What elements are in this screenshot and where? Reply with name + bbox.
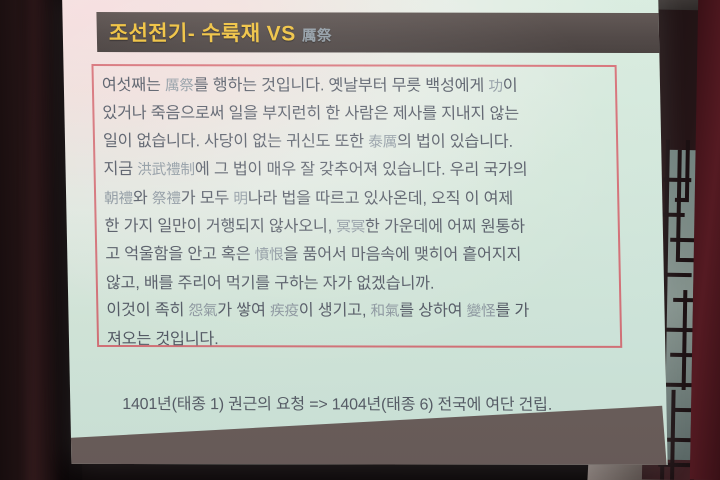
projection-screen-slide: 조선전기- 수륙재 VS 厲祭 여섯째는 厲祭를 행하는 것입니다. 옛날부터 …	[62, 0, 668, 465]
slide-title: 조선전기- 수륙재 VS 厲祭	[109, 17, 333, 47]
slide-body-line: 이것이 족히 怨氣가 쌓여 疾疫이 생기고, 和氣를 상하여 變怪를 가	[106, 297, 612, 326]
slide-body-line: 일이 없습니다. 사당이 없는 귀신도 또한 泰厲의 법이 있습니다.	[103, 128, 609, 157]
slide-body-line: 지금 洪武禮制에 그 법이 매우 잘 갖추어져 있습니다. 우리 국가의	[103, 156, 609, 185]
screen-bottom-edge	[68, 406, 667, 465]
slide-body-line: 朝禮와 祭禮가 모두 明나라 법을 따르고 있사온데, 오직 이 여제	[104, 185, 610, 214]
slide-body-line: 않고, 배를 주리어 먹기를 구하는 자가 없겠습니까.	[106, 270, 612, 298]
slide-body-line: 한 가지 일만이 거행되지 않사오니, 冥冥한 가운데에 어찌 원통하	[104, 213, 610, 242]
slide-body-line: 고 억울함을 안고 혹은 憤恨을 품어서 마음속에 맺히어 흩어지지	[105, 241, 611, 270]
slide-body-line: 져오는 것입니다.	[107, 326, 613, 354]
slide-body-line: 여섯째는 厲祭를 행하는 것입니다. 옛날부터 무릇 백성에게 功이	[102, 72, 608, 101]
slide-title-bar: 조선전기- 수륙재 VS 厲祭	[96, 12, 667, 53]
left-wall-glow	[28, 0, 62, 480]
slide-body-line: 있거나 죽음으로써 일을 부지런히 한 사람은 제사를 지내지 않는	[102, 100, 608, 128]
slide-body-box: 여섯째는 厲祭를 행하는 것입니다. 옛날부터 무릇 백성에게 功이 있거나 죽…	[91, 64, 622, 348]
screenshot-stage: 조선전기- 수륙재 VS 厲祭 여섯째는 厲祭를 행하는 것입니다. 옛날부터 …	[0, 0, 720, 480]
